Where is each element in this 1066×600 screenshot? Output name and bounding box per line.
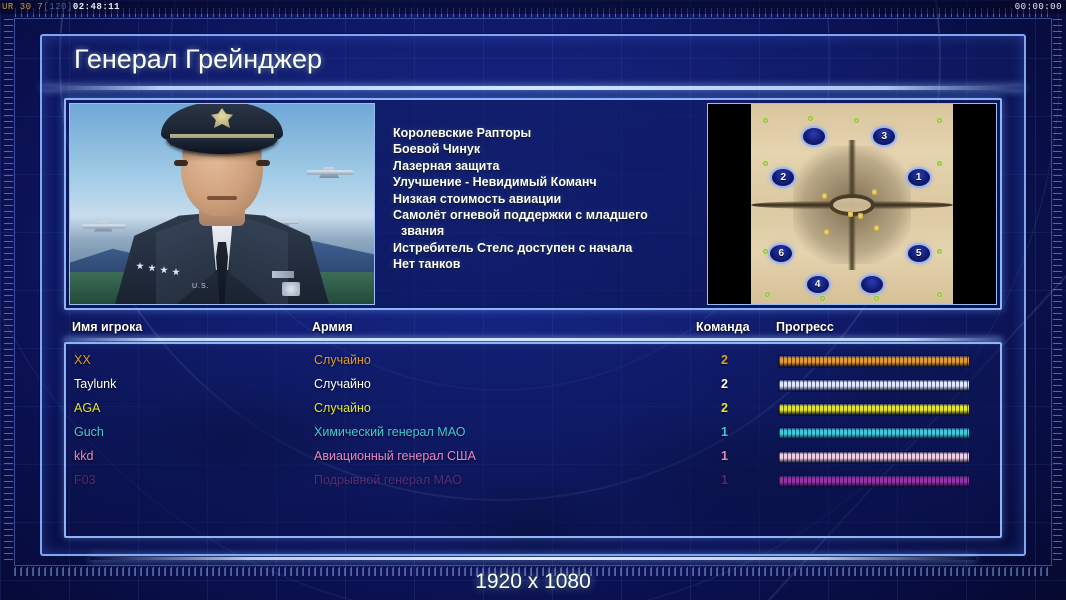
column-header-team: Команда xyxy=(696,320,750,334)
resolution-label: 1920 x 1080 xyxy=(0,570,1066,594)
top-status-bar: UR 30 7[120]02:48:11 00:00:00 xyxy=(0,0,1066,14)
map-resource-node xyxy=(937,118,942,123)
column-header-name: Имя игрока xyxy=(72,320,142,334)
table-row[interactable]: F03Подрывной генерал МАО1 xyxy=(74,470,992,494)
player-name: Guch xyxy=(74,425,104,439)
title-divider xyxy=(42,86,1024,90)
map-supply-dock xyxy=(848,211,853,217)
map-supply-dock xyxy=(824,229,829,235)
player-army: Химический генерал МАО xyxy=(314,425,465,439)
player-name: XX xyxy=(74,353,91,367)
map-supply-dock xyxy=(858,213,863,219)
player-progress-bar xyxy=(778,427,970,440)
player-team: 2 xyxy=(706,401,728,415)
map-supply-dock xyxy=(822,193,827,199)
general-portrait: U.S. xyxy=(69,103,375,305)
player-team: 1 xyxy=(706,473,728,487)
top-status-right-clock: 00:00:00 xyxy=(1015,0,1062,14)
ability-line-cont: звания xyxy=(393,223,707,239)
map-start-position: 2 xyxy=(772,169,794,186)
map-start-position xyxy=(803,128,825,145)
officer-figure: U.S. xyxy=(114,118,330,304)
officer-mouth xyxy=(207,196,237,200)
map-resource-node xyxy=(765,292,770,297)
map-resource-node xyxy=(763,161,768,166)
player-name: Taylunk xyxy=(74,377,116,391)
player-name: AGA xyxy=(74,401,100,415)
top-status-left: UR 30 7[120]02:48:11 xyxy=(2,0,120,14)
ability-line: Лазерная защита xyxy=(393,158,707,174)
player-army: Авиационный генерал США xyxy=(314,449,476,463)
ribbon-bar-icon xyxy=(272,271,294,278)
top-status-clock: 02:48:11 xyxy=(73,2,120,12)
ability-line: Самолёт огневой поддержки с младшего xyxy=(393,207,707,223)
map-supply-dock xyxy=(872,189,877,195)
roster-header-row: Имя игрока Армия Команда Прогресс xyxy=(64,318,1002,340)
player-army: Случайно xyxy=(314,377,371,391)
game-lobby-screen: UR 30 7[120]02:48:11 00:00:00 Генерал Гр… xyxy=(0,0,1066,600)
map-resource-node xyxy=(937,292,942,297)
roster-rows: XXСлучайно2TaylunkСлучайно2AGAСлучайно2G… xyxy=(64,342,1002,538)
progress-fill xyxy=(779,476,969,487)
progress-fill xyxy=(779,452,969,463)
player-army: Случайно xyxy=(314,401,371,415)
player-progress-bar xyxy=(778,403,970,416)
general-info-panel: U.S. Королевские Рапторы Боевой Чинук Ла… xyxy=(64,98,1002,310)
ability-line: Боевой Чинук xyxy=(393,141,707,157)
officer-eye-left xyxy=(174,160,188,166)
player-team: 2 xyxy=(706,353,728,367)
top-status-ticks: UR 30 7 xyxy=(2,2,43,12)
player-army: Случайно xyxy=(314,353,371,367)
page-title: Генерал Грейнджер xyxy=(74,44,322,75)
ability-line: Улучшение - Невидимый Команч xyxy=(393,174,707,190)
progress-fill xyxy=(779,356,969,367)
us-insignia: U.S. xyxy=(192,283,210,290)
player-name: kkd xyxy=(74,449,93,463)
ability-line: Нет танков xyxy=(393,256,707,272)
player-team: 1 xyxy=(706,449,728,463)
table-row[interactable]: XXСлучайно2 xyxy=(74,350,992,374)
map-start-position: 4 xyxy=(807,276,829,293)
officer-eye-right xyxy=(256,160,270,166)
ability-line: Истребитель Стелс доступен с начала xyxy=(393,240,707,256)
player-progress-bar xyxy=(778,475,970,488)
roster-header-divider xyxy=(64,338,1002,341)
map-start-position xyxy=(861,276,883,293)
map-supply-dock xyxy=(874,225,879,231)
wings-badge-icon xyxy=(282,282,300,296)
map-resource-node xyxy=(937,161,942,166)
table-row[interactable]: AGAСлучайно2 xyxy=(74,398,992,422)
column-header-progress: Прогресс xyxy=(776,320,834,334)
ruler-right xyxy=(1053,19,1062,565)
footer-divider xyxy=(90,557,976,560)
table-row[interactable]: GuchХимический генерал МАО1 xyxy=(74,422,992,446)
progress-fill xyxy=(779,428,969,439)
map-resource-node xyxy=(808,116,813,121)
ability-line: Низкая стоимость авиации xyxy=(393,191,707,207)
map-preview[interactable]: 321654 xyxy=(707,103,997,305)
progress-fill xyxy=(779,380,969,391)
ruler-left xyxy=(4,19,13,565)
player-progress-bar xyxy=(778,451,970,464)
player-progress-bar xyxy=(778,355,970,368)
player-name: F03 xyxy=(74,473,96,487)
map-start-position: 1 xyxy=(908,169,930,186)
table-row[interactable]: kkdАвиационный генерал США1 xyxy=(74,446,992,470)
map-resource-node xyxy=(820,296,825,301)
general-abilities-list: Королевские Рапторы Боевой Чинук Лазерна… xyxy=(375,103,707,305)
player-army: Подрывной генерал МАО xyxy=(314,473,462,487)
progress-fill xyxy=(779,404,969,415)
main-panel: Генерал Грейнджер xyxy=(40,34,1026,556)
ability-line: Королевские Рапторы xyxy=(393,125,707,141)
table-row[interactable]: TaylunkСлучайно2 xyxy=(74,374,992,398)
player-team: 2 xyxy=(706,377,728,391)
player-progress-bar xyxy=(778,379,970,392)
player-roster: Имя игрока Армия Команда Прогресс XXСлуч… xyxy=(64,318,1002,538)
column-header-army: Армия xyxy=(312,320,353,334)
map-preview-image: 321654 xyxy=(751,104,953,305)
top-status-bracket: [120] xyxy=(43,2,73,12)
title-bar: Генерал Грейнджер xyxy=(42,36,1024,90)
player-team: 1 xyxy=(706,425,728,439)
